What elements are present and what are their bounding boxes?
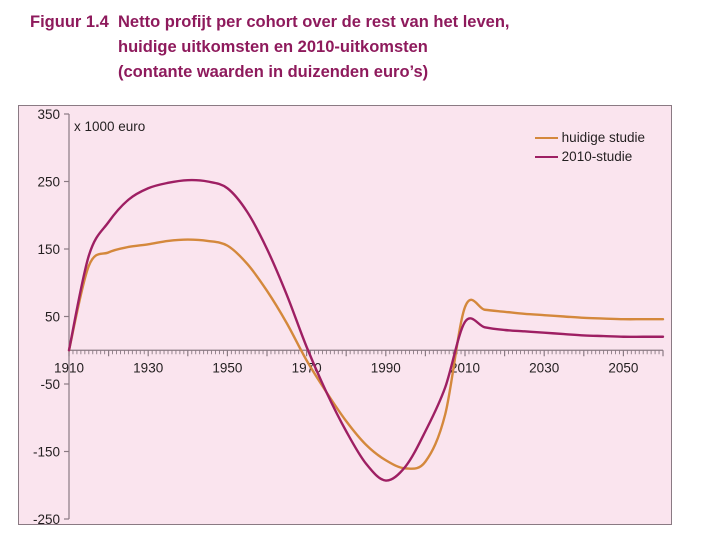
x-tick-label: 2050 [608,360,638,375]
x-tick-label: 1930 [133,360,163,375]
x-tick-label: 1950 [212,360,242,375]
y-tick-label: -50 [40,377,60,392]
y-tick-label: -250 [33,512,60,526]
figure-number: Figuur 1.4 [0,10,118,35]
plot-area: 35025015050-50-150-250191019301950197019… [19,106,673,526]
figure-title-line-3: (contante waarden in duizenden euro’s) [118,60,510,85]
y-tick-label: 50 [45,310,60,325]
x-tick-label: 1910 [54,360,84,375]
x-tick-label: 1990 [371,360,401,375]
y-tick-label: 150 [37,242,60,257]
chart-panel: x 1000 euro huidige studie 2010-studie 3… [18,105,672,525]
figure-caption: Figuur 1.4 Netto profijt per cohort over… [0,10,714,85]
figure-title: Netto profijt per cohort over de rest va… [118,10,510,85]
series-line-2010-studie [69,180,663,480]
y-tick-label: -150 [33,445,60,460]
figure-title-line-1: Netto profijt per cohort over de rest va… [118,10,510,35]
y-tick-label: 350 [37,107,60,122]
y-tick-label: 250 [37,175,60,190]
x-tick-label: 2030 [529,360,559,375]
figure-title-line-2: huidige uitkomsten en 2010-uitkomsten [118,35,510,60]
